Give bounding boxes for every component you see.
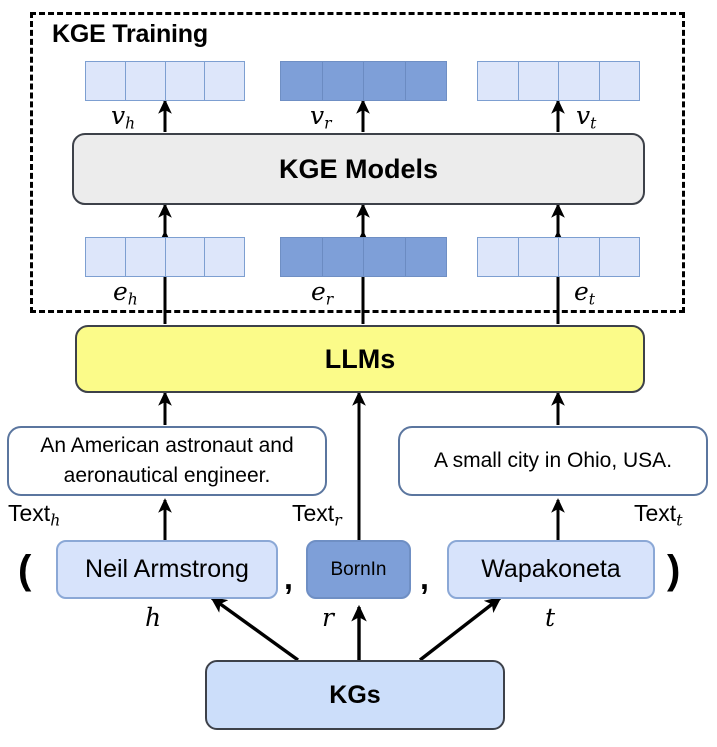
text-head-caption: Texth bbox=[8, 500, 60, 530]
vector-e-r-symbol: e bbox=[311, 277, 326, 306]
vector-cell bbox=[126, 62, 166, 100]
vector-e-t-symbol: e bbox=[574, 277, 589, 306]
text-head-caption-sub: h bbox=[50, 511, 60, 530]
text-head-line1: An American astronaut and bbox=[40, 431, 293, 461]
vector-v-h bbox=[85, 61, 245, 101]
vector-cell bbox=[166, 238, 206, 276]
vector-v-t-label: vt bbox=[576, 101, 596, 132]
triple-head-box[interactable]: Neil Armstrong bbox=[56, 540, 278, 599]
triple-tail-symbol: t bbox=[545, 603, 555, 632]
triple-tail-box[interactable]: Wapakoneta bbox=[447, 540, 655, 599]
text-tail-caption-sub: t bbox=[676, 511, 682, 530]
vector-e-r bbox=[280, 237, 447, 277]
triple-open-paren: ( bbox=[18, 550, 31, 590]
triple-head-value: Neil Armstrong bbox=[85, 555, 249, 584]
text-relation-caption-word: Text bbox=[292, 500, 334, 526]
vector-cell bbox=[478, 62, 519, 100]
vector-v-h-symbol: v bbox=[111, 101, 125, 130]
vector-cell bbox=[559, 62, 600, 100]
vector-v-t-symbol: v bbox=[576, 101, 590, 130]
vector-v-h-subscript: h bbox=[125, 114, 135, 132]
triple-separator-2: , bbox=[420, 562, 429, 594]
vector-e-t-label: et bbox=[574, 277, 595, 308]
llms-label: LLMs bbox=[325, 344, 396, 375]
text-tail-caption-word: Text bbox=[634, 500, 676, 526]
triple-relation-value: BornIn bbox=[331, 559, 387, 581]
vector-e-h-subscript: h bbox=[128, 290, 138, 308]
vector-e-h bbox=[85, 237, 245, 277]
vector-e-r-label: er bbox=[311, 277, 333, 308]
vector-cell bbox=[478, 238, 519, 276]
vector-cell bbox=[323, 238, 365, 276]
vector-e-r-subscript: r bbox=[326, 290, 333, 308]
triple-relation-box[interactable]: BornIn bbox=[306, 540, 411, 599]
text-relation-caption-sub: r bbox=[334, 511, 341, 530]
vector-cell bbox=[86, 238, 126, 276]
vector-cell bbox=[281, 62, 323, 100]
kge-models-label: KGE Models bbox=[279, 154, 438, 185]
vector-v-r bbox=[280, 61, 447, 101]
triple-relation-symbol: r bbox=[322, 603, 334, 632]
vector-cell bbox=[205, 238, 244, 276]
text-relation-caption: Textr bbox=[292, 500, 342, 530]
llms-box[interactable]: LLMs bbox=[75, 325, 645, 393]
vector-cell bbox=[323, 62, 365, 100]
vector-v-r-symbol: v bbox=[310, 101, 324, 130]
vector-cell bbox=[519, 62, 560, 100]
text-head-box[interactable]: An American astronaut and aeronautical e… bbox=[7, 426, 327, 496]
text-head-line2: aeronautical engineer. bbox=[64, 461, 271, 491]
kgs-box[interactable]: KGs bbox=[205, 660, 505, 730]
text-tail-caption: Textt bbox=[634, 500, 682, 530]
vector-e-t-subscript: t bbox=[589, 290, 595, 308]
triple-tail-value: Wapakoneta bbox=[481, 555, 620, 584]
vector-cell bbox=[86, 62, 126, 100]
vector-cell bbox=[600, 238, 640, 276]
text-tail-line1: A small city in Ohio, USA. bbox=[434, 446, 672, 476]
vector-v-t bbox=[477, 61, 640, 101]
triple-close-paren: ) bbox=[667, 550, 680, 590]
vector-cell bbox=[126, 238, 166, 276]
vector-cell bbox=[406, 62, 447, 100]
vector-cell bbox=[205, 62, 244, 100]
vector-cell bbox=[281, 238, 323, 276]
kgs-label: KGs bbox=[329, 681, 380, 710]
vector-cell bbox=[406, 238, 447, 276]
text-tail-box[interactable]: A small city in Ohio, USA. bbox=[398, 426, 708, 496]
vector-v-t-subscript: t bbox=[590, 114, 596, 132]
vector-cell bbox=[364, 238, 406, 276]
vector-cell bbox=[166, 62, 206, 100]
vector-v-h-label: vh bbox=[111, 101, 135, 132]
text-head-caption-word: Text bbox=[8, 500, 50, 526]
vector-e-h-label: eh bbox=[113, 277, 138, 308]
vector-v-r-subscript: r bbox=[324, 114, 331, 132]
vector-cell bbox=[364, 62, 406, 100]
vector-e-h-symbol: e bbox=[113, 277, 128, 306]
vector-v-r-label: vr bbox=[310, 101, 332, 132]
vector-cell bbox=[519, 238, 560, 276]
kge-models-box[interactable]: KGE Models bbox=[72, 133, 645, 205]
vector-cell bbox=[600, 62, 640, 100]
triple-separator-1: , bbox=[284, 562, 293, 594]
vector-cell bbox=[559, 238, 600, 276]
kge-training-title: KGE Training bbox=[52, 20, 208, 49]
triple-head-symbol: h bbox=[145, 603, 161, 632]
vector-e-t bbox=[477, 237, 640, 277]
figure-canvas: KGE Training vh vr vt KGE Models eh bbox=[0, 0, 717, 747]
